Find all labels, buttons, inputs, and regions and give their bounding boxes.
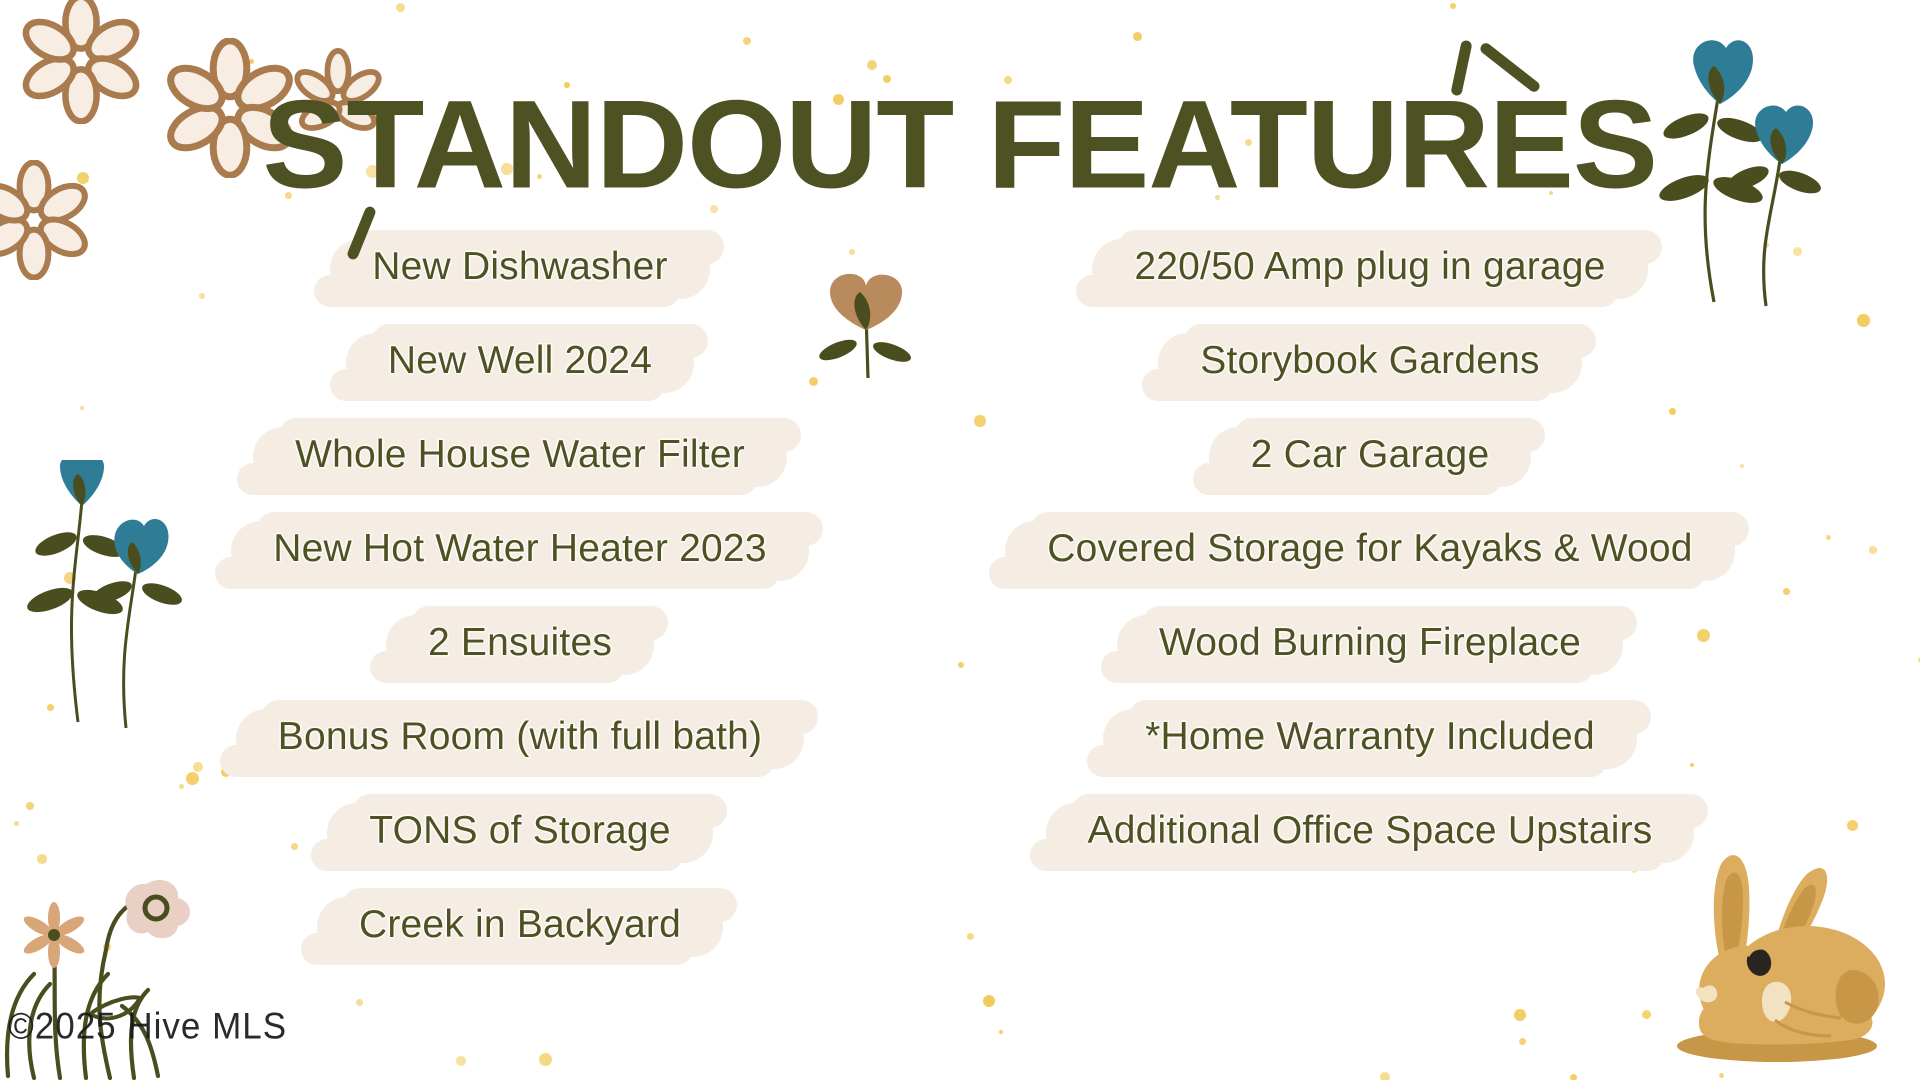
confetti-dot (14, 821, 19, 826)
feature-label: Additional Office Space Upstairs (1088, 809, 1653, 852)
confetti-dot (38, 68, 49, 79)
confetti-dot (1570, 1074, 1577, 1080)
feature-highlight-pill: Storybook Gardens (1158, 333, 1581, 394)
feature-highlight-pill: TONS of Storage (327, 803, 712, 864)
page-title: STANDOUT FEATURES (263, 82, 1658, 207)
feature-label: New Well 2024 (388, 339, 652, 382)
feature-row: Creek in Backyard (110, 880, 930, 974)
feature-highlight-pill: New Dishwasher (330, 239, 709, 300)
feature-row: Bonus Room (with full bath) (110, 692, 930, 786)
feature-row: Whole House Water Filter (110, 410, 930, 504)
feature-highlight-pill: Additional Office Space Upstairs (1046, 803, 1695, 864)
confetti-dot (983, 995, 995, 1007)
feature-highlight-pill: Covered Storage for Kayaks & Wood (1005, 521, 1734, 582)
confetti-dot (867, 60, 877, 70)
feature-label: Covered Storage for Kayaks & Wood (1047, 527, 1692, 570)
feature-row: Wood Burning Fireplace (960, 598, 1780, 692)
confetti-dot (396, 3, 405, 12)
feature-label: New Dishwasher (372, 245, 667, 288)
feature-highlight-pill: Whole House Water Filter (253, 427, 787, 488)
feature-label: Whole House Water Filter (295, 433, 745, 476)
confetti-dot (80, 406, 84, 410)
poster-canvas: STANDOUT FEATURES New DishwasherNew Well… (0, 0, 1920, 1080)
feature-highlight-pill: 2 Car Garage (1209, 427, 1532, 488)
confetti-dot (26, 802, 34, 810)
feature-row: 2 Car Garage (960, 410, 1780, 504)
confetti-dot (47, 704, 54, 711)
feature-row: 2 Ensuites (110, 598, 930, 692)
mls-watermark: ©2025 Hive MLS (8, 1006, 287, 1048)
feature-highlight-pill: New Hot Water Heater 2023 (231, 521, 808, 582)
feature-label: TONS of Storage (369, 809, 670, 852)
feature-label: Creek in Backyard (359, 903, 681, 946)
feature-highlight-pill: Creek in Backyard (317, 897, 723, 958)
confetti-dot (1519, 1038, 1526, 1045)
feature-label: 220/50 Amp plug in garage (1134, 245, 1605, 288)
feature-column-left: New DishwasherNew Well 2024Whole House W… (110, 222, 930, 974)
feature-row: New Hot Water Heater 2023 (110, 504, 930, 598)
feature-label: Wood Burning Fireplace (1159, 621, 1581, 664)
confetti-dot (539, 1053, 552, 1066)
confetti-dot (1719, 1073, 1724, 1078)
feature-highlight-pill: Wood Burning Fireplace (1117, 615, 1623, 676)
bunny-rabbit-icon (1655, 850, 1895, 1065)
confetti-dot (356, 999, 363, 1006)
feature-row: New Dishwasher (110, 222, 930, 316)
confetti-dot (37, 854, 47, 864)
confetti-dot (743, 37, 751, 45)
feature-label: New Hot Water Heater 2023 (273, 527, 766, 570)
confetti-dot (1869, 546, 1877, 554)
feature-row: Covered Storage for Kayaks & Wood (960, 504, 1780, 598)
feature-label: Bonus Room (with full bath) (278, 715, 762, 758)
feature-highlight-pill: New Well 2024 (346, 333, 694, 394)
feature-label: 2 Ensuites (428, 621, 612, 664)
feature-row: 220/50 Amp plug in garage (960, 222, 1780, 316)
confetti-dot (1783, 588, 1790, 595)
confetti-dot (249, 59, 254, 64)
feature-row: New Well 2024 (110, 316, 930, 410)
confetti-dot (1133, 32, 1142, 41)
feature-label: Storybook Gardens (1200, 339, 1539, 382)
confetti-dot (64, 572, 76, 584)
feature-row: *Home Warranty Included (960, 692, 1780, 786)
confetti-dot (1847, 820, 1858, 831)
feature-highlight-pill: *Home Warranty Included (1103, 709, 1637, 770)
feature-highlight-pill: 2 Ensuites (386, 615, 654, 676)
feature-highlight-pill: Bonus Room (with full bath) (236, 709, 804, 770)
confetti-dot (1450, 3, 1456, 9)
confetti-dot (999, 1030, 1003, 1034)
confetti-dot (1642, 1010, 1651, 1019)
feature-row: Additional Office Space Upstairs (960, 786, 1780, 880)
feature-label: *Home Warranty Included (1145, 715, 1595, 758)
tan-daisy-flower (21, 902, 87, 968)
confetti-dot (1380, 1072, 1390, 1080)
confetti-dot (1793, 247, 1802, 256)
feature-row: Storybook Gardens (960, 316, 1780, 410)
feature-highlight-pill: 220/50 Amp plug in garage (1092, 239, 1647, 300)
feature-label: 2 Car Garage (1251, 433, 1490, 476)
confetti-dot (456, 1056, 466, 1066)
page-title-wrapper: STANDOUT FEATURES (0, 82, 1920, 194)
feature-column-right: 220/50 Amp plug in garageStorybook Garde… (960, 222, 1780, 880)
feature-row: TONS of Storage (110, 786, 930, 880)
confetti-dot (967, 933, 974, 940)
confetti-dot (1857, 314, 1870, 327)
confetti-dot (1514, 1009, 1526, 1021)
confetti-dot (1826, 535, 1831, 540)
